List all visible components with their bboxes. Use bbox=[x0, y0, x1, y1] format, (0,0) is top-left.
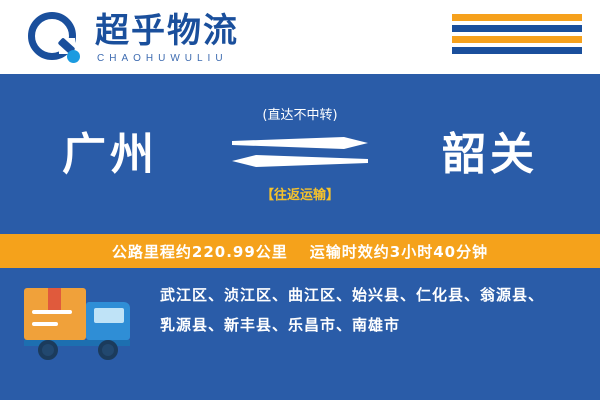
coverage-area-list: 武江区、浈江区、曲江区、始兴县、仁化县、翁源县、 乳源县、新丰县、乐昌市、南雄市 bbox=[160, 280, 580, 340]
origin-city: 广州 bbox=[62, 118, 158, 182]
circle-logo-icon bbox=[28, 12, 84, 64]
logistics-route-card: 超乎物流 CHAOHUWULIU 广州 韶关 (直达不中转) bbox=[0, 0, 600, 400]
coverage-line-1: 武江区、浈江区、曲江区、始兴县、仁化县、翁源县、 bbox=[160, 280, 580, 310]
arrow-right-icon bbox=[232, 136, 368, 150]
stripe-4 bbox=[452, 47, 582, 54]
double-arrow-icon bbox=[232, 132, 368, 174]
coverage-panel: 武江区、浈江区、曲江区、始兴县、仁化县、翁源县、 乳源县、新丰县、乐昌市、南雄市 bbox=[0, 268, 600, 400]
stripe-3 bbox=[452, 36, 582, 43]
stripe-1 bbox=[452, 14, 582, 21]
logo-dot bbox=[67, 50, 80, 63]
brand-name-cn: 超乎物流 bbox=[95, 12, 239, 50]
delivery-truck-icon bbox=[24, 280, 144, 368]
coverage-line-2: 乳源县、新丰县、乐昌市、南雄市 bbox=[160, 310, 580, 340]
brand-text: 超乎物流 CHAOHUWULIU bbox=[95, 12, 239, 64]
stripe-2 bbox=[452, 25, 582, 32]
summary-bar: 公路里程约220.99公里 运输时效约3小时40分钟 bbox=[0, 234, 600, 268]
route-arrow-zone: (直达不中转) 【往返运输】 bbox=[232, 104, 368, 204]
route-panel: 广州 韶关 (直达不中转) 【往返运输】 bbox=[0, 74, 600, 234]
truck-window bbox=[94, 308, 124, 323]
truck-line-1 bbox=[32, 310, 72, 314]
header: 超乎物流 CHAOHUWULIU bbox=[0, 0, 600, 74]
route-row: 广州 韶关 (直达不中转) 【往返运输】 bbox=[0, 74, 600, 234]
decorative-stripes-icon bbox=[452, 14, 582, 62]
duration-label: 运输时效约3小时40分钟 bbox=[310, 241, 488, 262]
route-note-top: (直达不中转) bbox=[232, 104, 368, 123]
truck-line-2 bbox=[32, 322, 58, 326]
destination-city: 韶关 bbox=[442, 118, 538, 182]
truck-wheel-rear bbox=[38, 340, 58, 360]
route-note-bottom: 【往返运输】 bbox=[224, 184, 376, 203]
arrow-left-icon bbox=[232, 154, 368, 168]
distance-label: 公路里程约220.99公里 bbox=[112, 241, 288, 262]
brand-name-en: CHAOHUWULIU bbox=[97, 53, 239, 64]
truck-box-tape bbox=[48, 288, 61, 310]
truck-wheel-front bbox=[98, 340, 118, 360]
